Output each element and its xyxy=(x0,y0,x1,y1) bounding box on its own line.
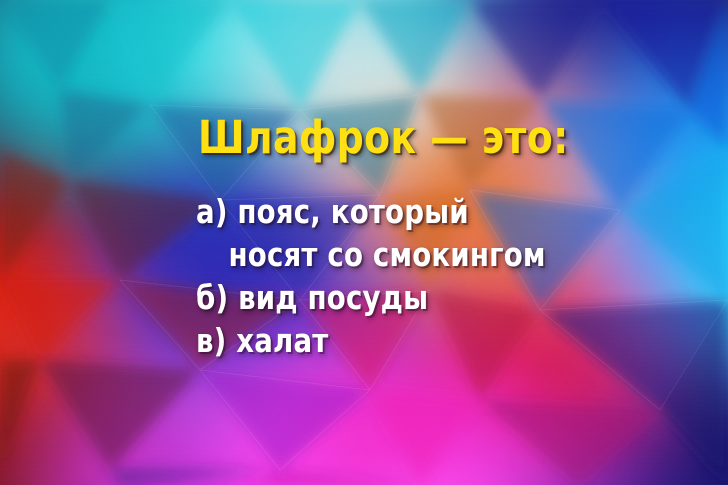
quiz-option-v: в) халат xyxy=(196,319,642,362)
quiz-content: Шлафрок — это: а) пояс, который носят со… xyxy=(0,0,728,485)
quiz-option-a-line-2: носят со смокингом xyxy=(196,233,642,276)
quiz-question-title: Шлафрок — это: xyxy=(198,112,569,164)
quiz-option-b: б) вид посуды xyxy=(196,276,642,319)
quiz-answer-options: а) пояс, который носят со смокингом б) в… xyxy=(196,190,676,362)
quiz-card: Шлафрок — это: а) пояс, который носят со… xyxy=(0,0,728,485)
quiz-option-a-line-1: а) пояс, который xyxy=(196,190,642,233)
